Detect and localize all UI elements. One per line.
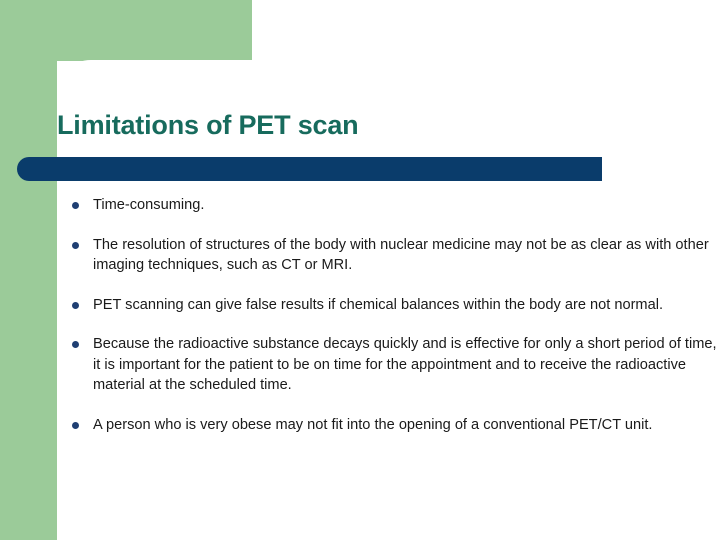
list-item: Because the radioactive substance decays… — [70, 334, 718, 396]
bullet-dot-icon — [72, 242, 79, 249]
bullet-list: Time-consuming. The resolution of struct… — [70, 195, 718, 435]
list-item: Time-consuming. — [70, 195, 718, 216]
list-item-label: PET scanning can give false results if c… — [93, 295, 718, 316]
list-item: A person who is very obese may not fit i… — [70, 415, 718, 436]
list-item-label: Because the radioactive substance decays… — [93, 334, 718, 396]
bullet-dot-icon — [72, 422, 79, 429]
list-item-label: Time-consuming. — [93, 195, 718, 216]
list-item: PET scanning can give false results if c… — [70, 295, 718, 316]
bullet-dot-icon — [72, 302, 79, 309]
bullet-dot-icon — [72, 202, 79, 209]
title-accent-bar — [17, 157, 602, 181]
bullet-dot-icon — [72, 341, 79, 348]
presentation-slide: Limitations of PET scan Time-consuming. … — [0, 0, 720, 540]
list-item: The resolution of structures of the body… — [70, 235, 718, 276]
slide-title: Limitations of PET scan — [57, 108, 657, 142]
list-item-label: A person who is very obese may not fit i… — [93, 415, 718, 436]
decorative-green-sidebar — [0, 0, 57, 540]
list-item-label: The resolution of structures of the body… — [93, 235, 718, 276]
